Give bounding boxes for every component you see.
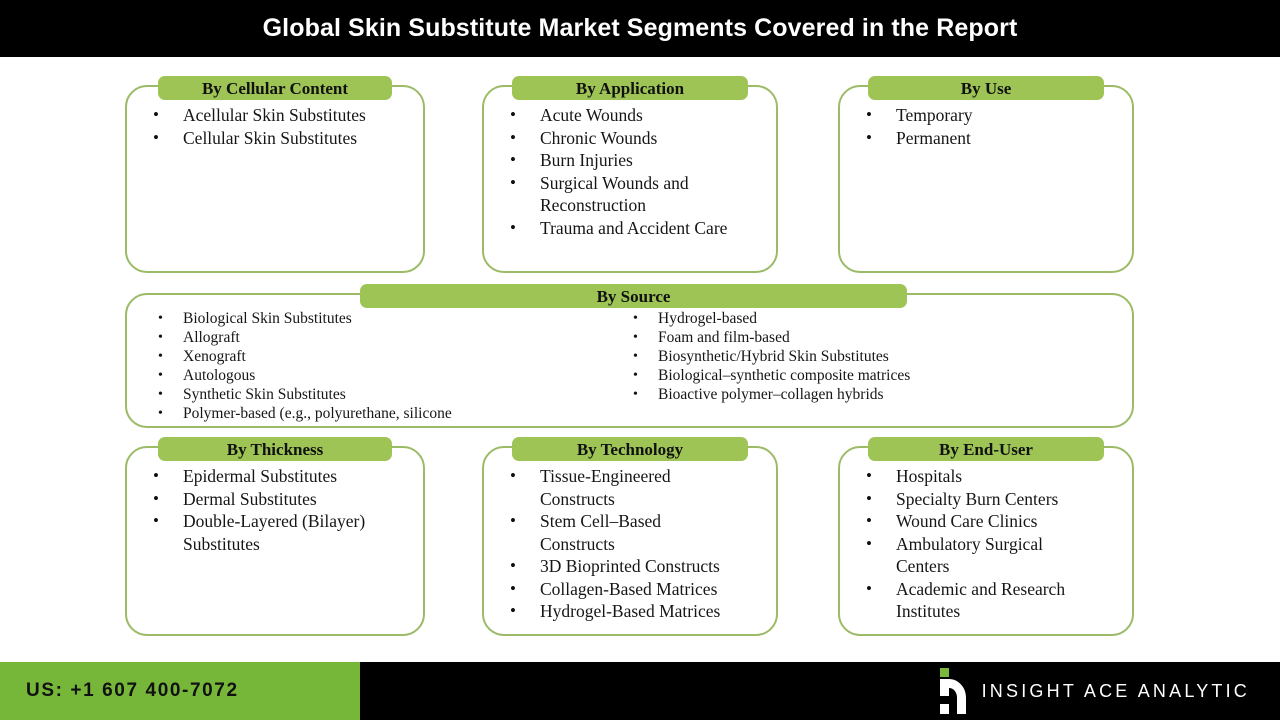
list-item: Hydrogel-based bbox=[600, 309, 1120, 328]
segment-body-cellular-content: Acellular Skin Substitutes Cellular Skin… bbox=[125, 104, 425, 149]
segment-header-source: By Source bbox=[360, 284, 907, 308]
list-item: Dermal Substitutes bbox=[125, 488, 425, 511]
segment-body-technology: Tissue-Engineered Constructs Stem Cell–B… bbox=[482, 465, 778, 623]
segment-title-use: By Use bbox=[961, 80, 1012, 97]
segment-body-thickness: Epidermal Substitutes Dermal Substitutes… bbox=[125, 465, 425, 555]
segment-header-cellular-content: By Cellular Content bbox=[158, 76, 392, 100]
footer-phone-number[interactable]: US: +1 607 400-7072 bbox=[26, 680, 239, 702]
segment-title-end-user: By End-User bbox=[939, 441, 1033, 458]
list-item: Bioactive polymer–collagen hybrids bbox=[600, 385, 1120, 404]
list-item: Foam and film-based bbox=[600, 328, 1120, 347]
segment-body-use: Temporary Permanent bbox=[838, 104, 1134, 149]
logo-letter-a-icon bbox=[932, 679, 966, 714]
list-item: 3D Bioprinted Constructs bbox=[482, 555, 778, 578]
segment-header-technology: By Technology bbox=[512, 437, 748, 461]
segment-body-source-right: Hydrogel-based Foam and film-based Biosy… bbox=[600, 309, 1120, 404]
list-item: Trauma and Accident Care bbox=[482, 217, 778, 240]
segment-list-thickness: Epidermal Substitutes Dermal Substitutes… bbox=[125, 465, 425, 555]
footer-bar: US: +1 607 400-7072 INSIGHT ACE ANALYTIC bbox=[0, 662, 1280, 720]
list-item: Polymer-based (e.g., polyurethane, silic… bbox=[125, 404, 625, 423]
list-item: Biosynthetic/Hybrid Skin Substitutes bbox=[600, 347, 1120, 366]
list-item: Wound Care Clinics bbox=[838, 510, 1134, 533]
list-item: Xenograft bbox=[125, 347, 625, 366]
list-item: Ambulatory Surgical Centers bbox=[838, 533, 1134, 578]
segment-list-cellular-content: Acellular Skin Substitutes Cellular Skin… bbox=[125, 104, 425, 149]
insightace-a-mark-icon bbox=[932, 668, 966, 714]
logo-square-accent-icon bbox=[940, 668, 949, 677]
footer-brand-block: INSIGHT ACE ANALYTIC bbox=[932, 662, 1250, 720]
segment-list-use: Temporary Permanent bbox=[838, 104, 1134, 149]
list-item: Biological–synthetic composite matrices bbox=[600, 366, 1120, 385]
segment-list-technology: Tissue-Engineered Constructs Stem Cell–B… bbox=[482, 465, 778, 623]
segment-header-application: By Application bbox=[512, 76, 748, 100]
segment-list-source-right: Hydrogel-based Foam and film-based Biosy… bbox=[600, 309, 1120, 404]
segment-body-application: Acute Wounds Chronic Wounds Burn Injurie… bbox=[482, 104, 778, 239]
list-item: Temporary bbox=[838, 104, 1134, 127]
list-item: Burn Injuries bbox=[482, 149, 778, 172]
segment-title-source: By Source bbox=[597, 288, 671, 305]
segment-title-application: By Application bbox=[576, 80, 684, 97]
list-item: Biological Skin Substitutes bbox=[125, 309, 625, 328]
list-item: Synthetic Skin Substitutes bbox=[125, 385, 625, 404]
list-item: Surgical Wounds and Reconstruction bbox=[482, 172, 778, 217]
list-item: Hospitals bbox=[838, 465, 1134, 488]
segment-title-thickness: By Thickness bbox=[227, 441, 324, 458]
list-item: Stem Cell–Based Constructs bbox=[482, 510, 778, 555]
segment-body-end-user: Hospitals Specialty Burn Centers Wound C… bbox=[838, 465, 1134, 623]
brand-name-text: INSIGHT ACE ANALYTIC bbox=[982, 681, 1250, 702]
list-item: Hydrogel-Based Matrices bbox=[482, 600, 778, 623]
page-title-bar: Global Skin Substitute Market Segments C… bbox=[0, 0, 1280, 57]
list-item: Permanent bbox=[838, 127, 1134, 150]
segment-title-technology: By Technology bbox=[577, 441, 683, 458]
segment-list-end-user: Hospitals Specialty Burn Centers Wound C… bbox=[838, 465, 1134, 623]
segment-header-use: By Use bbox=[868, 76, 1104, 100]
segment-list-source-left: Biological Skin Substitutes Allograft Xe… bbox=[125, 309, 625, 423]
list-item: Acute Wounds bbox=[482, 104, 778, 127]
segment-title-cellular-content: By Cellular Content bbox=[202, 80, 348, 97]
list-item: Tissue-Engineered Constructs bbox=[482, 465, 778, 510]
list-item: Autologous bbox=[125, 366, 625, 385]
list-item: Specialty Burn Centers bbox=[838, 488, 1134, 511]
segment-header-thickness: By Thickness bbox=[158, 437, 392, 461]
footer-contact-block: US: +1 607 400-7072 bbox=[0, 662, 360, 720]
segment-header-end-user: By End-User bbox=[868, 437, 1104, 461]
segment-body-source-left: Biological Skin Substitutes Allograft Xe… bbox=[125, 309, 625, 423]
page-title: Global Skin Substitute Market Segments C… bbox=[263, 14, 1018, 43]
list-item: Collagen-Based Matrices bbox=[482, 578, 778, 601]
list-item: Double-Layered (Bilayer) Substitutes bbox=[125, 510, 425, 555]
list-item: Acellular Skin Substitutes bbox=[125, 104, 425, 127]
list-item: Allograft bbox=[125, 328, 625, 347]
segment-list-application: Acute Wounds Chronic Wounds Burn Injurie… bbox=[482, 104, 778, 239]
list-item: Cellular Skin Substitutes bbox=[125, 127, 425, 150]
list-item: Academic and Research Institutes bbox=[838, 578, 1134, 623]
list-item: Chronic Wounds bbox=[482, 127, 778, 150]
list-item: Epidermal Substitutes bbox=[125, 465, 425, 488]
